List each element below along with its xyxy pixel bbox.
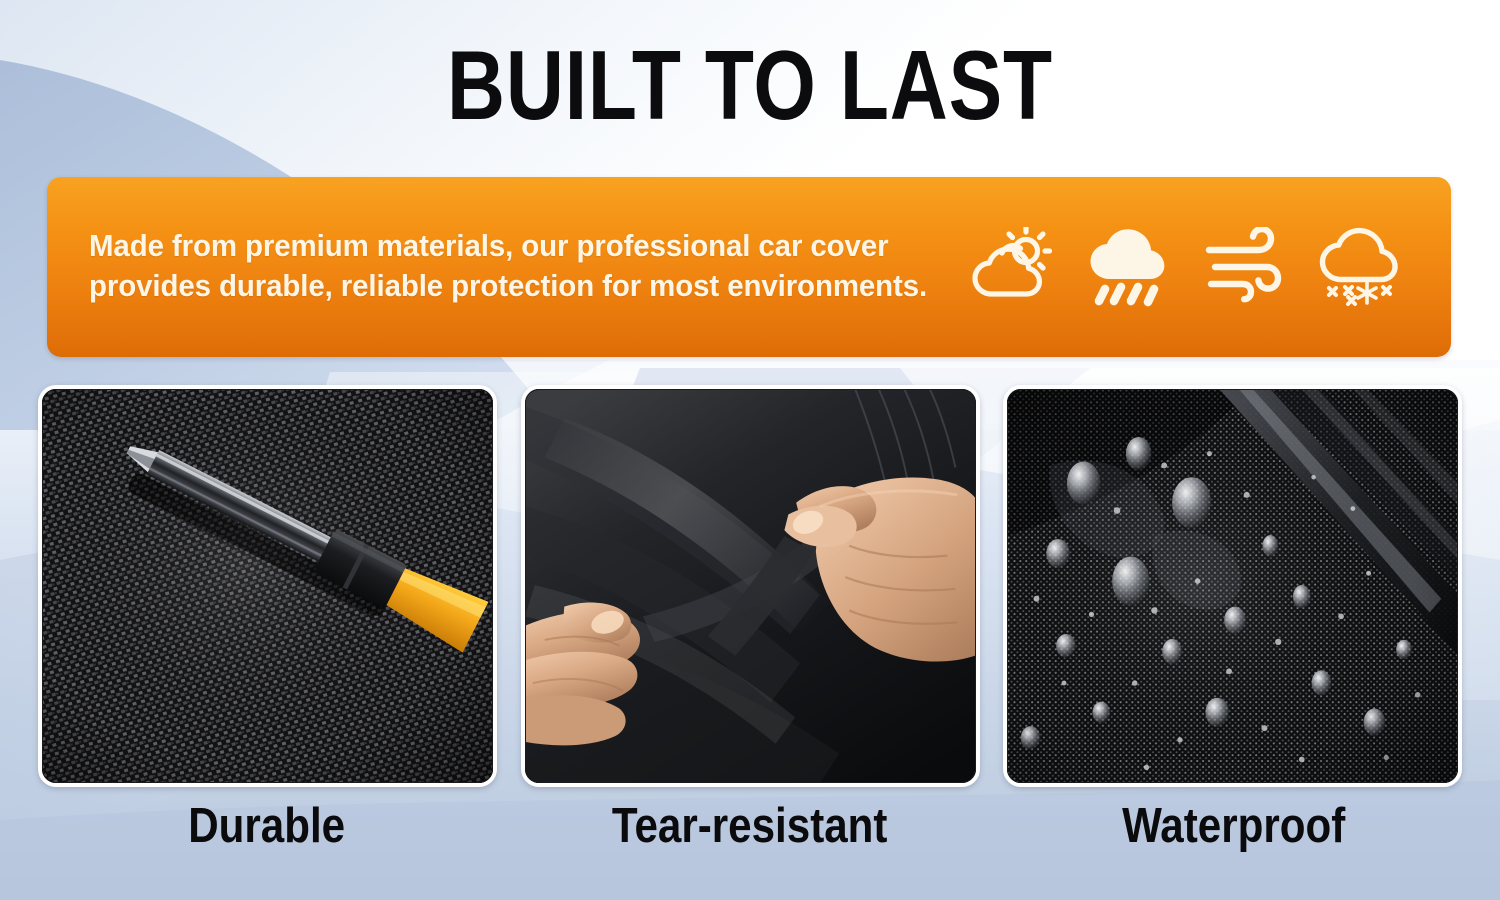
page-title: BUILT TO LAST bbox=[135, 36, 1365, 134]
feature-card-tear-resistant[interactable] bbox=[521, 385, 980, 795]
promo-banner: Made from premium materials, our profess… bbox=[47, 177, 1451, 357]
sun-behind-cloud-icon bbox=[969, 227, 1055, 307]
feature-caption-tear-resistant: Tear-resistant bbox=[553, 793, 946, 863]
feature-caption-waterproof: Waterproof bbox=[1037, 793, 1430, 863]
woven-fabric-with-screwdriver-photo bbox=[38, 385, 497, 787]
hands-stretching-fabric-photo bbox=[521, 385, 980, 787]
weather-icon-row bbox=[969, 227, 1425, 307]
feature-panel-row bbox=[38, 385, 1462, 795]
feature-card-waterproof[interactable] bbox=[1003, 385, 1462, 795]
wind-icon bbox=[1201, 227, 1287, 307]
water-beading-on-fabric-photo bbox=[1003, 385, 1462, 787]
feature-card-durable[interactable] bbox=[38, 385, 497, 795]
feature-caption-durable: Durable bbox=[70, 793, 463, 863]
promo-banner-text: Made from premium materials, our profess… bbox=[89, 227, 938, 306]
rain-cloud-icon bbox=[1085, 227, 1171, 307]
feature-caption-row: Durable Tear-resistant Waterproof bbox=[38, 793, 1462, 863]
snow-cloud-icon bbox=[1317, 227, 1403, 307]
